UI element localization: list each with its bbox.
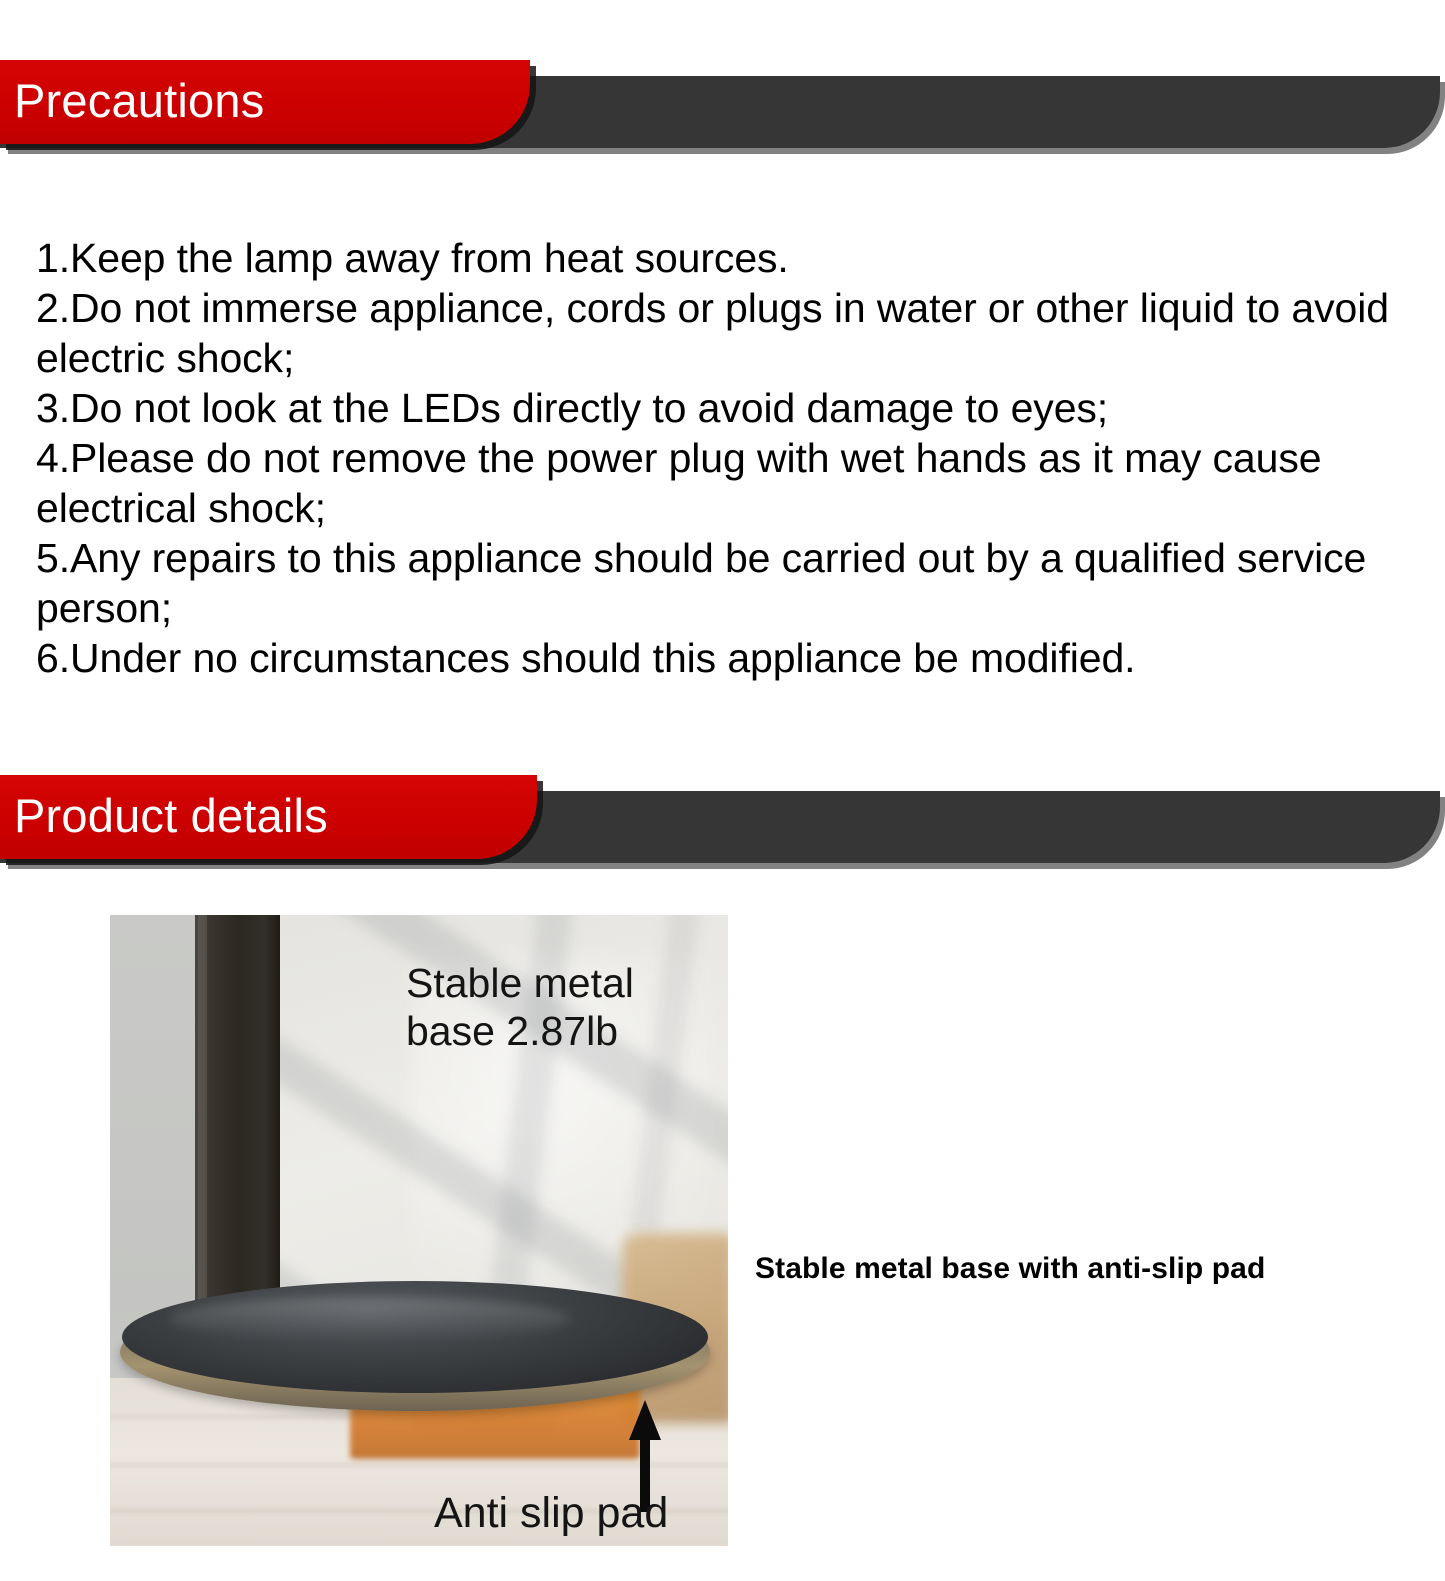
- photo-overlay-weight-label: Stable metal base 2.87lb: [406, 959, 634, 1055]
- photo-overlay-pad-label: Anti slip pad: [434, 1489, 668, 1537]
- list-item: 2.Do not immerse appliance, cords or plu…: [36, 283, 1406, 383]
- lamp-pole-highlight: [198, 915, 207, 1317]
- list-item: 4.Please do not remove the power plug wi…: [36, 433, 1406, 533]
- product-details-title: Product details: [14, 775, 328, 859]
- lamp-pole: [195, 915, 280, 1317]
- precautions-title: Precautions: [14, 60, 264, 144]
- precautions-section-banner: Precautions: [0, 58, 1445, 153]
- precautions-list: 1.Keep the lamp away from heat sources. …: [36, 233, 1406, 683]
- list-item: 5.Any repairs to this appliance should b…: [36, 533, 1406, 633]
- product-base-photo: Stable metal base 2.87lb Anti slip pad: [110, 915, 728, 1546]
- metal-base-sheen: [170, 1297, 570, 1341]
- product-photo-caption: Stable metal base with anti-slip pad: [755, 1252, 1265, 1286]
- product-details-section-banner: Product details: [0, 773, 1445, 868]
- list-item: 3.Do not look at the LEDs directly to av…: [36, 383, 1406, 433]
- list-item: 6.Under no circumstances should this app…: [36, 633, 1406, 683]
- list-item: 1.Keep the lamp away from heat sources.: [36, 233, 1406, 283]
